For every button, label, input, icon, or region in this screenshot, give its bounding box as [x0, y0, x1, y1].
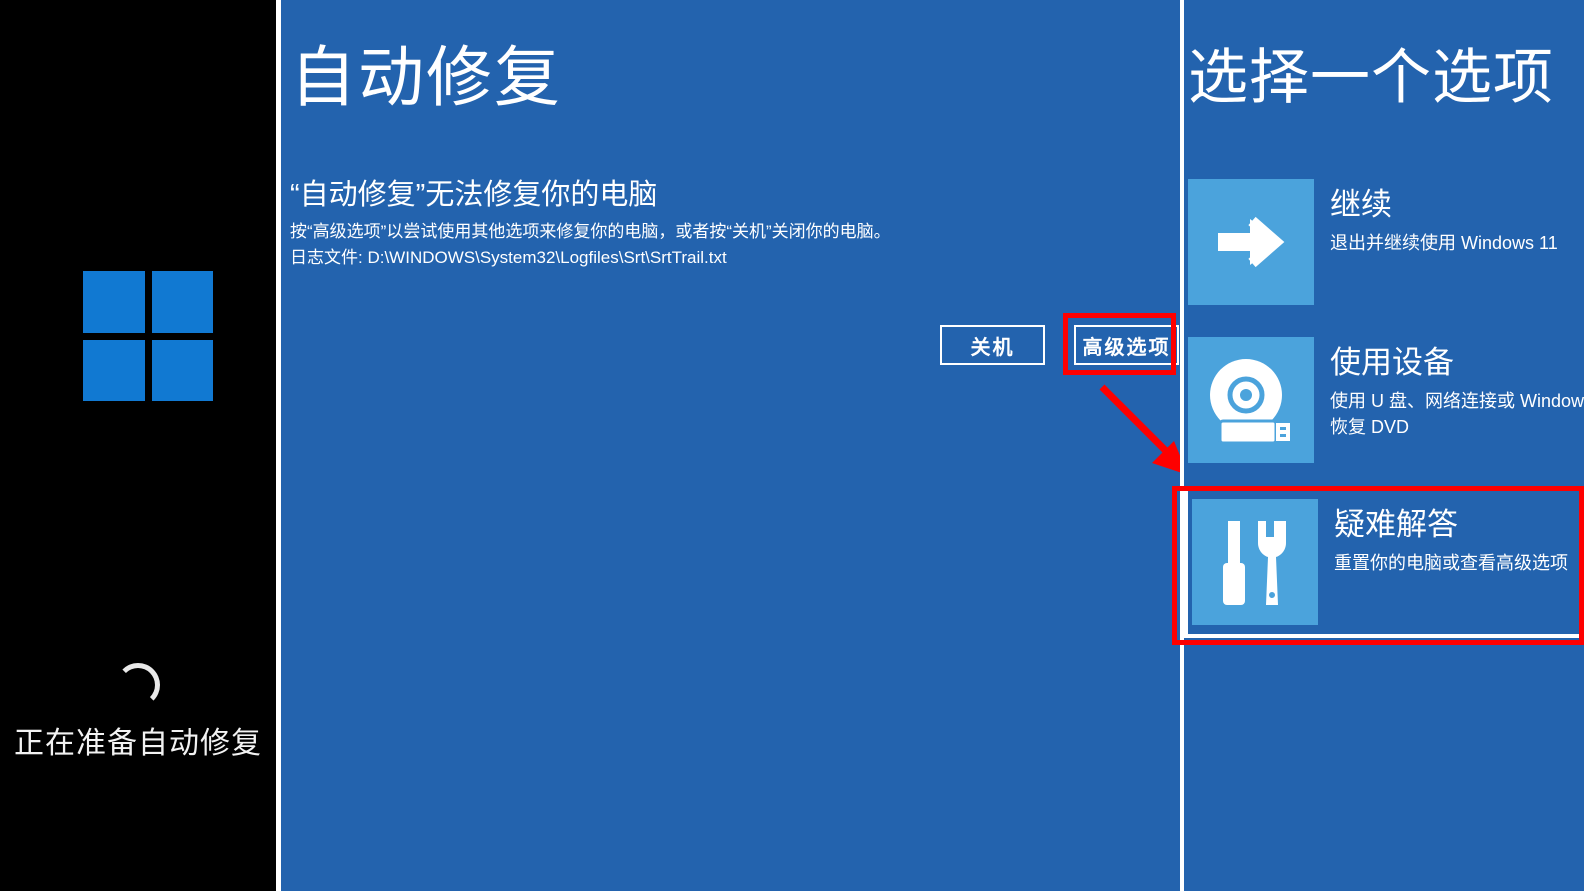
logo-pane-bottom-right: [152, 340, 214, 402]
choose-option-panel: 选择一个选项 继续 退出并继续使用 Windows 11: [1184, 0, 1584, 891]
option-use-a-device[interactable]: 使用设备 使用 U 盘、网络连接或 Windows 恢复 DVD: [1184, 328, 1584, 472]
windows-11-logo: [83, 271, 213, 401]
option-troubleshoot[interactable]: 疑难解答 重置你的电脑或查看高级选项: [1184, 486, 1584, 638]
boot-status-text: 正在准备自动修复: [0, 718, 276, 762]
page-title: 自动修复: [290, 44, 562, 110]
loading-spinner-icon: [116, 663, 160, 707]
logo-pane-top-left: [83, 271, 145, 333]
disc-usb-icon: [1188, 337, 1314, 463]
option-troubleshoot-title: 疑难解答: [1334, 508, 1458, 542]
logo-pane-bottom-left: [83, 340, 145, 402]
options-panel-title: 选择一个选项: [1188, 48, 1554, 108]
shutdown-button[interactable]: 关机: [940, 325, 1045, 365]
option-continue[interactable]: 继续 退出并继续使用 Windows 11: [1184, 170, 1584, 314]
repair-heading: “自动修复”无法修复你的电脑: [290, 178, 657, 213]
option-use-a-device-title: 使用设备: [1330, 346, 1454, 380]
option-troubleshoot-desc: 重置你的电脑或查看高级选项: [1334, 550, 1584, 576]
logo-pane-top-right: [152, 271, 214, 333]
boot-panel: 正在准备自动修复: [0, 0, 276, 891]
option-continue-title: 继续: [1330, 188, 1392, 222]
advanced-options-button[interactable]: 高级选项: [1074, 325, 1179, 365]
recovery-screen: 正在准备自动修复 自动修复 “自动修复”无法修复你的电脑 按“高级选项”以尝试使…: [0, 0, 1584, 891]
screwdriver-wrench-icon: [1192, 499, 1318, 625]
option-continue-desc: 退出并继续使用 Windows 11: [1330, 230, 1584, 256]
repair-instruction-text: 按“高级选项”以尝试使用其他选项来修复你的电脑，或者按“关机”关闭你的电脑。: [290, 220, 891, 244]
repair-logfile-text: 日志文件: D:\WINDOWS\System32\Logfiles\Srt\S…: [290, 246, 727, 270]
automatic-repair-panel: 自动修复 “自动修复”无法修复你的电脑 按“高级选项”以尝试使用其他选项来修复你…: [281, 0, 1180, 891]
arrow-right-icon: [1188, 179, 1314, 305]
option-use-a-device-desc: 使用 U 盘、网络连接或 Windows 恢复 DVD: [1330, 388, 1584, 440]
loading-spinner-wrap: [0, 655, 276, 715]
